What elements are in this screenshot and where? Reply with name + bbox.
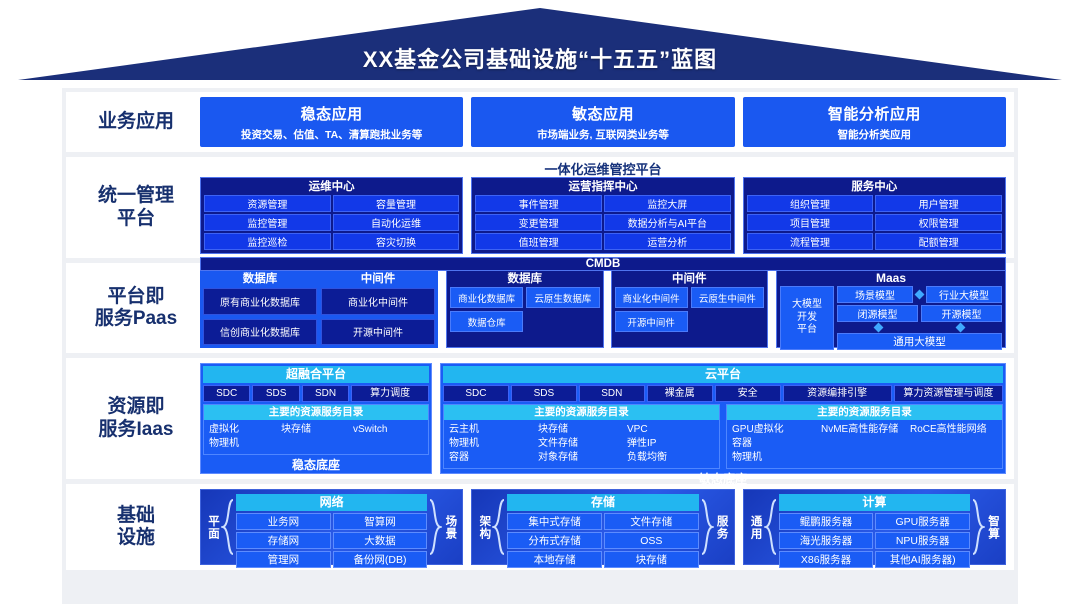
connector-slot [837,324,920,331]
paas-column-middleware: 中间件 商业化中间件 开源中间件 [321,271,435,345]
center-cell[interactable]: 容量管理 [333,195,460,212]
infra-title: 存储 [507,494,698,511]
maas-row-source: 闭源模型 开源模型 [837,305,1002,322]
paas-item[interactable]: 商业化中间件 [615,287,688,308]
layer-label-line2: 平台 [98,208,174,230]
layer-iaas: 资源即 服务Iaas 超融合平台 SDC SDS SDN 算力调度 [66,358,1014,479]
maas-model-open-source[interactable]: 开源模型 [921,305,1002,322]
infra-cell[interactable]: 智算网 [333,513,428,530]
layer-business-applications: 业务应用 稳态应用 投资交易、估值、TA、清算跑批业务等 敏态应用 市场端业务,… [66,92,1014,152]
layer-label-line2: 服务Paas [95,308,177,330]
iaas-card-title: 超融合平台 [203,366,429,383]
iaas-tab[interactable]: SDS [252,385,299,402]
infra-left-label: 架构 [476,494,492,560]
paas-item[interactable]: 商业化数据库 [450,287,523,308]
infra-cell[interactable]: 块存储 [604,551,699,568]
center-title: 运营指挥中心 [475,180,730,195]
center-cell[interactable]: 运营分析 [604,233,731,250]
service-item [910,451,997,465]
iaas-tab[interactable]: SDC [443,385,509,402]
paas-column-title: 数据库 [203,271,317,288]
app-card-steady[interactable]: 稳态应用 投资交易、估值、TA、清算跑批业务等 [200,97,463,147]
page-title: XX基金公司基础设施“十五五”蓝图 [0,42,1080,74]
infra-cells: 集中式存储 文件存储 分布式存储 OSS 本地存储 块存储 [507,513,698,568]
paas-item[interactable]: 原有商业化数据库 [203,288,317,315]
paas-box-title: 中间件 [615,271,765,287]
infra-content: 计算 鲲鹏服务器 GPU服务器 海光服务器 NPU服务器 X86服务器 其他AI… [777,494,972,560]
paas-item[interactable]: 数据仓库 [450,311,523,332]
business-app-cards: 稳态应用 投资交易、估值、TA、清算跑批业务等 敏态应用 市场端业务, 互联网类… [200,97,1006,147]
infra-right-label: 服务 [714,494,730,560]
infra-block-network: 平面 网络 业务网 智算网 存储网 大数据 管理网 备份网(DB) [200,489,463,565]
iaas-catalogs: 主要的资源服务目录 云主机 块存储 VPC 物理机 文件存储 弹性IP 容器 对… [443,404,1003,469]
layer-label-iaas: 资源即 服务Iaas [72,363,200,474]
infrastructure-blocks: 平面 网络 业务网 智算网 存储网 大数据 管理网 备份网(DB) [200,489,1006,565]
infra-content: 网络 业务网 智算网 存储网 大数据 管理网 备份网(DB) [234,494,429,560]
service-item[interactable]: 物理机 [732,451,819,465]
iaas-tabs: SDC SDS SDN 裸金属 安全 资源编排引擎 算力资源管理与调度 [443,385,1003,402]
iaas-footer-agile: 敏态底座 [443,471,1003,487]
center-cell[interactable]: 项目管理 [747,214,874,231]
brace-right-icon [701,494,714,560]
iaas-tab[interactable]: 算力调度 [351,385,429,402]
maas-dev-line1: 大模型 [792,299,822,312]
platform-title: 一体化运维管控平台 [200,162,1006,177]
iaas-tab[interactable]: SDN [579,385,645,402]
cmdb-bar[interactable]: CMDB [200,257,1006,271]
center-cells: 组织管理 用户管理 项目管理 权限管理 流程管理 配额管理 [747,195,1002,250]
center-cell[interactable]: 资源管理 [204,195,331,212]
app-card-intelligent-analytics[interactable]: 智能分析应用 智能分析类应用 [743,97,1006,147]
center-cell[interactable]: 监控大屏 [604,195,731,212]
connector-diamond-icon [956,323,966,333]
service-item[interactable]: 块存储 [538,423,625,437]
service-item[interactable]: 容器 [732,437,819,451]
brace-left-icon [764,494,777,560]
layer-label-line1: 统一管理 [98,185,174,207]
paas-item[interactable]: 云原生中间件 [691,287,764,308]
iaas-tabs: SDC SDS SDN 算力调度 [203,385,429,402]
service-item [821,451,908,465]
app-card-subtitle: 智能分析类应用 [838,127,912,142]
infra-cell[interactable]: 文件存储 [604,513,699,530]
app-card-subtitle: 投资交易、估值、TA、清算跑批业务等 [241,127,422,142]
paas-box-title: 数据库 [450,271,600,287]
catalog-title: 主要的资源服务目录 [444,405,719,420]
brace-left-icon [492,494,505,560]
layer-label-unified-management: 统一管理 平台 [72,162,200,253]
app-card-subtitle: 市场端业务, 互联网类业务等 [537,127,669,142]
infra-left-label: 平面 [205,494,221,560]
maas-body: 大模型 开发 平台 场景模型 行业大模型 [780,286,1002,350]
infra-cell[interactable]: 业务网 [236,513,331,530]
iaas-catalog: 主要的资源服务目录 虚拟化 块存储 vSwitch 物理机 [203,404,429,455]
service-item[interactable]: VPC [627,423,714,437]
catalog-services: GPU虚拟化 NvME高性能存储 RoCE高性能网络 容器 物理机 [727,420,1002,468]
infra-cell[interactable]: 分布式存储 [507,532,602,549]
iaas-catalog-general: 主要的资源服务目录 云主机 块存储 VPC 物理机 文件存储 弹性IP 容器 对… [443,404,720,469]
center-cell[interactable]: 监控管理 [204,214,331,231]
brace-right-icon [429,494,442,560]
service-item[interactable]: 文件存储 [538,437,625,451]
paas-box-database: 数据库 商业化数据库 云原生数据库 数据仓库 [446,268,604,348]
catalog-title: 主要的资源服务目录 [727,405,1002,420]
connector-slot [920,324,1003,331]
center-cell[interactable]: 监控巡检 [204,233,331,250]
iaas-tab[interactable]: 资源编排引擎 [783,385,892,402]
paas-item[interactable]: 商业化中间件 [321,288,435,315]
service-item[interactable]: 云主机 [449,423,536,437]
iaas-catalog-ai: 主要的资源服务目录 GPU虚拟化 NvME高性能存储 RoCE高性能网络 容器 … [726,404,1003,469]
infra-cell[interactable]: 大数据 [333,532,428,549]
infra-cell[interactable]: X86服务器 [779,551,874,568]
infra-block-compute: 通用 计算 鲲鹏服务器 GPU服务器 海光服务器 NPU服务器 X86服务器 其… [743,489,1006,565]
connector-diamond-icon [873,323,883,333]
maas-model-scenario[interactable]: 场景模型 [837,286,913,303]
maas-row-scenario: 场景模型 行业大模型 [837,286,1002,303]
paas-box-items: 商业化数据库 云原生数据库 数据仓库 [450,287,600,344]
layer-label-line1: 平台即 [95,286,177,308]
maas-dev-platform[interactable]: 大模型 开发 平台 [780,286,834,350]
service-item[interactable]: NvME高性能存储 [821,423,908,437]
maas-dev-line3: 平台 [792,324,822,337]
app-card-title: 敏态应用 [572,103,634,124]
catalog-title: 主要的资源服务目录 [204,405,428,420]
infrastructure-blueprint-diagram: XX基金公司基础设施“十五五”蓝图 业务应用 稳态应用 投资交易、估值、TA、清… [0,0,1080,608]
layer-infrastructure: 基础 设施 平面 网络 业务网 智算网 存储网 [66,484,1014,570]
infra-left-label: 通用 [748,494,764,560]
paas-box-middleware: 中间件 商业化中间件 云原生中间件 开源中间件 [611,268,769,348]
infra-cell[interactable]: 集中式存储 [507,513,602,530]
paas-cloudnative-block: 数据库 商业化数据库 云原生数据库 数据仓库 中间件 商业化中间件 云原生中间件… [446,268,768,348]
layer-unified-management-platform: 统一管理 平台 一体化运维管控平台 运维中心 资源管理 容量管理 监控管理 自动… [66,157,1014,258]
iaas-tab[interactable]: 算力资源管理与调度 [894,385,1003,402]
app-card-title: 稳态应用 [301,103,363,124]
center-cells: 资源管理 容量管理 监控管理 自动化运维 监控巡检 容灾切换 [204,195,459,250]
iaas-tab[interactable]: SDC [203,385,250,402]
layers-board: 业务应用 稳态应用 投资交易、估值、TA、清算跑批业务等 敏态应用 市场端业务,… [62,88,1018,604]
center-ops: 运维中心 资源管理 容量管理 监控管理 自动化运维 监控巡检 容灾切换 [200,177,463,254]
infra-cells: 鲲鹏服务器 GPU服务器 海光服务器 NPU服务器 X86服务器 其他AI服务器… [779,513,970,568]
maas-models: 场景模型 行业大模型 闭源模型 开源模型 [837,286,1002,350]
infra-cell[interactable]: 海光服务器 [779,532,874,549]
maas-connectors [837,324,1002,331]
iaas-tab[interactable]: 安全 [715,385,781,402]
service-item [353,437,423,451]
service-item [910,437,997,451]
maas-model-general[interactable]: 通用大模型 [837,333,1002,350]
center-service: 服务中心 组织管理 用户管理 项目管理 权限管理 流程管理 配额管理 [743,177,1006,254]
service-item[interactable]: 物理机 [449,437,536,451]
center-cell[interactable]: 配额管理 [875,233,1002,250]
service-item[interactable]: vSwitch [353,423,423,437]
infra-right-label: 场景 [442,494,458,560]
infra-cell[interactable]: OSS [604,532,699,549]
brace-right-icon [972,494,985,560]
paas-item[interactable]: 开源中间件 [321,319,435,346]
catalog-services: 虚拟化 块存储 vSwitch 物理机 [204,420,428,454]
paas-column-title: 中间件 [321,271,435,288]
iaas-cloud-platform: 云平台 SDC SDS SDN 裸金属 安全 资源编排引擎 算力资源管理与调度 … [440,363,1006,474]
center-cell[interactable]: 数据分析与AI平台 [604,214,731,231]
paas-column-items: 原有商业化数据库 信创商业化数据库 [203,288,317,345]
service-item[interactable]: 对象存储 [538,451,625,465]
center-cell[interactable]: 自动化运维 [333,214,460,231]
infra-cell[interactable]: 本地存储 [507,551,602,568]
infra-cell[interactable]: 备份网(DB) [333,551,428,568]
paas-traditional-block: 数据库 原有商业化数据库 信创商业化数据库 中间件 商业化中间件 开源中间件 [200,268,438,348]
connector-diamond-icon [915,290,925,300]
iaas-catalogs: 主要的资源服务目录 虚拟化 块存储 vSwitch 物理机 [203,404,429,455]
infra-cells: 业务网 智算网 存储网 大数据 管理网 备份网(DB) [236,513,427,568]
infra-cell[interactable]: 鲲鹏服务器 [779,513,874,530]
center-cells: 事件管理 监控大屏 变更管理 数据分析与AI平台 值班管理 运营分析 [475,195,730,250]
iaas-card-title: 云平台 [443,366,1003,383]
roof-banner: XX基金公司基础设施“十五五”蓝图 [0,0,1080,92]
center-cell[interactable]: 流程管理 [747,233,874,250]
center-cell[interactable]: 用户管理 [875,195,1002,212]
layer-paas: 平台即 服务Paas 数据库 原有商业化数据库 信创商业化数据库 中间件 [66,263,1014,353]
management-centers: 运维中心 资源管理 容量管理 监控管理 自动化运维 监控巡检 容灾切换 运营指挥… [200,177,1006,254]
service-item[interactable]: 虚拟化 [209,423,279,437]
layer-label-paas: 平台即 服务Paas [72,268,200,348]
center-cell[interactable]: 事件管理 [475,195,602,212]
layer-label-business: 业务应用 [72,97,200,147]
layer-label-line2: 设施 [117,527,155,549]
service-item [821,437,908,451]
service-item[interactable]: GPU虚拟化 [732,423,819,437]
maas-model-industry[interactable]: 行业大模型 [926,286,1002,303]
maas-dev-line2: 开发 [792,312,822,325]
center-operations-command: 运营指挥中心 事件管理 监控大屏 变更管理 数据分析与AI平台 值班管理 运营分… [471,177,734,254]
iaas-body: 超融合平台 SDC SDS SDN 算力调度 主要的资源服务目录 虚拟化 块存储 [200,363,1006,474]
infra-cell[interactable]: 存储网 [236,532,331,549]
maas-title: Maas [780,271,1002,286]
infra-cell[interactable]: NPU服务器 [875,532,970,549]
iaas-tab[interactable]: 裸金属 [647,385,713,402]
center-cell[interactable]: 容灾切换 [333,233,460,250]
infra-right-label: 智算 [985,494,1001,560]
center-title: 服务中心 [747,180,1002,195]
iaas-hyperconverged-platform: 超融合平台 SDC SDS SDN 算力调度 主要的资源服务目录 虚拟化 块存储 [200,363,432,474]
center-cell[interactable]: 组织管理 [747,195,874,212]
brace-left-icon [221,494,234,560]
catalog-services: 云主机 块存储 VPC 物理机 文件存储 弹性IP 容器 对象存储 负载均衡 [444,420,719,468]
infra-title: 计算 [779,494,970,511]
layer-label-line1: 基础 [117,505,155,527]
iaas-tab[interactable]: SDS [511,385,577,402]
service-item[interactable]: RoCE高性能网络 [910,423,997,437]
app-card-agile[interactable]: 敏态应用 市场端业务, 互联网类业务等 [471,97,734,147]
infra-block-storage: 架构 存储 集中式存储 文件存储 分布式存储 OSS 本地存储 块存储 [471,489,734,565]
maas-model-closed-source[interactable]: 闭源模型 [837,305,918,322]
service-item[interactable]: 物理机 [209,437,279,451]
paas-item[interactable]: 信创商业化数据库 [203,319,317,346]
layer-label-infrastructure: 基础 设施 [72,489,200,565]
paas-box-items: 商业化中间件 云原生中间件 开源中间件 [615,287,765,344]
paas-column-database: 数据库 原有商业化数据库 信创商业化数据库 [203,271,317,345]
unified-management-body: 一体化运维管控平台 运维中心 资源管理 容量管理 监控管理 自动化运维 监控巡检… [200,162,1006,253]
layer-label-line2: 服务Iaas [99,419,174,441]
center-cell[interactable]: 值班管理 [475,233,602,250]
infra-cell[interactable]: 其他AI服务器) [875,551,970,568]
infra-cell[interactable]: GPU服务器 [875,513,970,530]
service-item [281,437,351,451]
infra-cell[interactable]: 管理网 [236,551,331,568]
maas-block: Maas 大模型 开发 平台 场景模型 [776,268,1006,348]
paas-column-items: 商业化中间件 开源中间件 [321,288,435,345]
layer-label-line1: 资源即 [99,396,174,418]
service-item[interactable]: 块存储 [281,423,351,437]
service-item[interactable]: 容器 [449,451,536,465]
center-cell[interactable]: 变更管理 [475,214,602,231]
infra-content: 存储 集中式存储 文件存储 分布式存储 OSS 本地存储 块存储 [505,494,700,560]
paas-item[interactable]: 开源中间件 [615,311,688,332]
paas-item[interactable]: 云原生数据库 [526,287,599,308]
center-title: 运维中心 [204,180,459,195]
center-cell[interactable]: 权限管理 [875,214,1002,231]
infra-title: 网络 [236,494,427,511]
service-item[interactable]: 负载均衡 [627,451,714,465]
service-item[interactable]: 弹性IP [627,437,714,451]
iaas-footer-steady: 稳态底座 [203,457,429,473]
iaas-tab[interactable]: SDN [302,385,349,402]
app-card-title: 智能分析应用 [828,103,921,124]
paas-body: 数据库 原有商业化数据库 信创商业化数据库 中间件 商业化中间件 开源中间件 [200,268,1006,348]
